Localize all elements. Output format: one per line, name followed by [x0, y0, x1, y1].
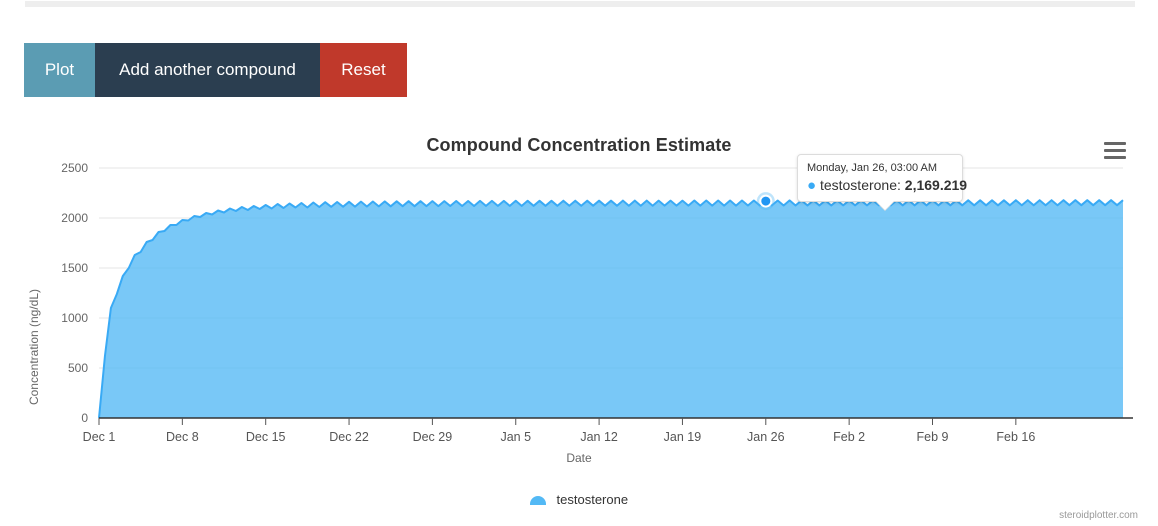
x-axis-tick-label: Jan 12 — [580, 430, 618, 444]
highlighted-data-point[interactable] — [757, 192, 775, 210]
legend-item-testosterone[interactable]: testosterone — [530, 492, 628, 507]
series-area-testosterone — [99, 200, 1123, 418]
tooltip-series-value: ● testosterone: 2,169.219 — [807, 177, 953, 193]
y-axis-tick-label: 2000 — [61, 211, 88, 225]
x-axis-tick-label: Feb 2 — [833, 430, 865, 444]
y-axis-tick-labels: 05001000150020002500 — [61, 161, 88, 425]
legend-item-label: testosterone — [557, 492, 629, 507]
chart-tooltip: Monday, Jan 26, 03:00 AM ● testosterone:… — [797, 154, 963, 202]
x-axis-tick-label: Dec 29 — [413, 430, 453, 444]
tooltip-series-bullet: ● — [807, 177, 816, 194]
y-axis-tick-label: 500 — [68, 361, 88, 375]
x-axis-tick-labels: Dec 1Dec 8Dec 15Dec 22Dec 29Jan 5Jan 12J… — [83, 418, 1036, 444]
x-axis-title: Date — [0, 451, 1158, 465]
y-axis-tick-label: 1000 — [61, 311, 88, 325]
plot-button[interactable]: Plot — [24, 43, 95, 97]
x-axis-tick-label: Feb 16 — [996, 430, 1035, 444]
y-axis-title: Concentration (ng/dL) — [27, 247, 41, 447]
chart-credits[interactable]: steroidplotter.com — [1059, 510, 1138, 521]
tooltip-value: 2,169.219 — [905, 177, 967, 193]
y-axis-tick-label: 1500 — [61, 261, 88, 275]
y-axis-tick-label: 2500 — [61, 161, 88, 175]
toolbar: Plot Add another compound Reset — [24, 43, 407, 97]
x-axis-tick-label: Jan 26 — [747, 430, 785, 444]
x-axis-tick-label: Jan 19 — [664, 430, 702, 444]
tooltip-arrow — [876, 201, 894, 210]
x-axis-tick-label: Dec 15 — [246, 430, 286, 444]
tooltip-timestamp: Monday, Jan 26, 03:00 AM — [807, 162, 953, 174]
page-top-strip — [25, 1, 1135, 7]
x-axis-tick-label: Jan 5 — [500, 430, 531, 444]
x-axis-tick-label: Feb 9 — [917, 430, 949, 444]
x-axis-tick-label: Dec 8 — [166, 430, 199, 444]
plot-area: 05001000150020002500 Dec 1Dec 8Dec 15Dec… — [0, 110, 1158, 526]
chart-legend: testosterone — [0, 492, 1158, 507]
x-axis-tick-label: Dec 22 — [329, 430, 369, 444]
add-another-compound-button[interactable]: Add another compound — [95, 43, 320, 97]
y-axis-tick-label: 0 — [81, 411, 88, 425]
tooltip-series-name: testosterone: — [820, 177, 901, 193]
x-axis-tick-label: Dec 1 — [83, 430, 116, 444]
concentration-chart: Compound Concentration Estimate 05001000… — [0, 110, 1158, 526]
legend-symbol-icon — [530, 496, 546, 505]
reset-button[interactable]: Reset — [320, 43, 407, 97]
